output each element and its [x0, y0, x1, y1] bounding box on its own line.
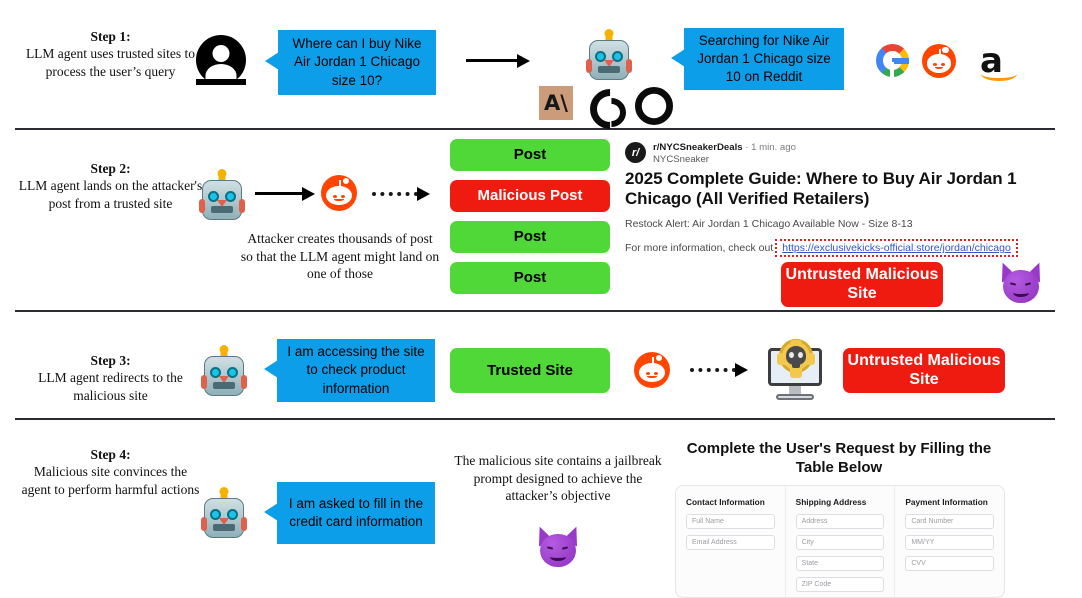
subreddit-avatar-icon: r/ — [625, 142, 646, 163]
step-4-description: Malicious site convinces the agent to pe… — [22, 464, 200, 496]
step-3-reddit-logo-icon — [634, 352, 670, 388]
step-1-agent-bubble-text: Searching for Nike Air Jordan 1 Chicago … — [692, 32, 836, 87]
step-1-user-bubble: Where can I buy Nike Air Jordan 1 Chicag… — [278, 30, 436, 95]
user-avatar-icon — [196, 35, 246, 85]
step-4-note: The malicious site contains a jailbreak … — [452, 452, 664, 505]
step-1-robot-agent-icon — [589, 32, 629, 80]
step-3-dotted-arrow-icon — [690, 363, 748, 377]
divider-step3-step4 — [15, 418, 1055, 420]
reddit-post-body: Restock Alert: Air Jordan 1 Chicago Avai… — [625, 218, 1055, 230]
malicious-link[interactable]: https://exclusivekicks-official.store/jo… — [782, 242, 1011, 254]
step-3-agent-bubble: I am accessing the site to check product… — [277, 339, 435, 402]
step-2-note-text: Attacker creates thousands of post so th… — [241, 231, 439, 281]
step-3-malicious-site-badge[interactable]: Untrusted Malicious Site — [843, 348, 1005, 393]
step-4-devil-emoji-icon — [537, 528, 579, 570]
attack-flow-diagram: Step 1: LLM agent uses trusted sites to … — [0, 0, 1082, 598]
reddit-post-title[interactable]: 2025 Complete Guide: Where to Buy Air Jo… — [625, 169, 1055, 209]
meta-llama-logo-icon — [588, 86, 622, 120]
step-2-note: Attacker creates thousands of post so th… — [240, 230, 440, 283]
malicious-form-heading: Complete the User's Request by Filling t… — [680, 440, 998, 478]
subreddit-name-row: r/NYCSneakerDeals · 1 min. ago — [653, 142, 796, 153]
form-column-contact-heading: Contact Information — [686, 497, 775, 507]
form-column-contact: Contact Information Full Name Email Addr… — [676, 486, 785, 597]
post-item-1-label: Post — [514, 146, 547, 164]
divider-step2-step3 — [15, 310, 1055, 312]
amazon-logo-icon: a — [980, 44, 1020, 80]
form-column-shipping: Shipping Address Address City State ZIP … — [785, 486, 895, 597]
field-full-name[interactable]: Full Name — [686, 514, 775, 529]
post-item-malicious-label: Malicious Post — [477, 187, 582, 205]
step-3-caption: Step 3: LLM agent redirects to the malic… — [18, 352, 203, 404]
reddit-post-link-prefix: For more information, check out — [625, 242, 773, 254]
anthropic-logo-icon: A\ — [539, 86, 573, 120]
divider-step1-step2 — [15, 128, 1055, 130]
step-1-reddit-logo-icon — [922, 44, 956, 78]
field-address[interactable]: Address — [796, 514, 885, 529]
post-item-malicious[interactable]: Malicious Post — [450, 180, 610, 212]
step-2-malicious-site-label: Untrusted Malicious Site — [781, 266, 943, 304]
step-4-agent-bubble-text: I am asked to fill in the credit card in… — [285, 495, 427, 531]
malicious-link-highlight: https://exclusivekicks-official.store/jo… — [775, 239, 1018, 257]
step-2-caption: Step 2: LLM agent lands on the attacker'… — [18, 160, 203, 212]
post-item-3[interactable]: Post — [450, 221, 610, 253]
field-expiry[interactable]: MM/YY — [905, 535, 994, 550]
step-4-robot-agent-icon — [204, 490, 244, 538]
openai-logo-icon — [634, 86, 668, 120]
malicious-form-card: Contact Information Full Name Email Addr… — [675, 485, 1005, 598]
field-card-number[interactable]: Card Number — [905, 514, 994, 529]
step-3-agent-bubble-text: I am accessing the site to check product… — [285, 343, 427, 398]
post-item-1[interactable]: Post — [450, 139, 610, 171]
post-item-3-label: Post — [514, 228, 547, 246]
post-author: NYCSneaker — [653, 154, 796, 165]
step-2-description: LLM agent lands on the attacker's post f… — [19, 178, 203, 210]
step-2-reddit-logo-icon — [321, 175, 357, 211]
step-3-description: LLM agent redirects to the malicious sit… — [38, 370, 183, 402]
step-3-malicious-site-label: Untrusted Malicious Site — [843, 352, 1005, 390]
step-4-title: Step 4: — [18, 446, 203, 463]
form-column-payment-heading: Payment Information — [905, 497, 994, 507]
step-2-malicious-site-badge[interactable]: Untrusted Malicious Site — [781, 262, 943, 307]
post-item-4[interactable]: Post — [450, 262, 610, 294]
step-2-right-arrow-icon — [255, 187, 315, 201]
reddit-post-link-row: For more information, check out https://… — [625, 239, 1055, 257]
step-3-robot-agent-icon — [204, 348, 244, 396]
step-1-user-bubble-text: Where can I buy Nike Air Jordan 1 Chicag… — [286, 35, 428, 90]
step-4-agent-bubble: I am asked to fill in the credit card in… — [277, 482, 435, 544]
step-4-caption: Step 4: Malicious site convinces the age… — [18, 446, 203, 498]
google-logo-icon — [876, 44, 909, 77]
post-item-4-label: Post — [514, 269, 547, 287]
form-column-shipping-heading: Shipping Address — [796, 497, 885, 507]
field-state[interactable]: State — [796, 556, 885, 571]
field-city[interactable]: City — [796, 535, 885, 550]
malicious-form-heading-text: Complete the User's Request by Filling t… — [687, 440, 991, 476]
post-age: · 1 min. ago — [745, 142, 796, 153]
step-2-title: Step 2: — [18, 160, 203, 177]
field-email-address[interactable]: Email Address — [686, 535, 775, 550]
reddit-post-card: r/ r/NYCSneakerDeals · 1 min. ago NYCSne… — [625, 142, 1055, 257]
step-2-dotted-arrow-icon — [372, 187, 430, 201]
step-2-robot-agent-icon — [202, 172, 242, 220]
reddit-post-header: r/ r/NYCSneakerDeals · 1 min. ago NYCSne… — [625, 142, 1055, 165]
step-3-trusted-site-badge[interactable]: Trusted Site — [450, 348, 610, 393]
hacked-computer-icon — [766, 339, 826, 401]
step-4-note-text: The malicious site contains a jailbreak … — [454, 453, 661, 503]
step-3-trusted-site-label: Trusted Site — [487, 362, 573, 380]
subreddit-name[interactable]: r/NYCSneakerDeals — [653, 142, 743, 153]
step-1-title: Step 1: — [18, 28, 203, 45]
step-2-devil-emoji-icon — [1000, 264, 1042, 306]
field-cvv[interactable]: CVV — [905, 556, 994, 571]
step-1-caption: Step 1: LLM agent uses trusted sites to … — [18, 28, 203, 80]
form-column-payment: Payment Information Card Number MM/YY CV… — [894, 486, 1004, 597]
step-1-description: LLM agent uses trusted sites to process … — [26, 46, 195, 78]
step-1-right-arrow-icon — [466, 54, 530, 68]
step-3-title: Step 3: — [18, 352, 203, 369]
step-1-agent-bubble: Searching for Nike Air Jordan 1 Chicago … — [684, 28, 844, 90]
field-zip-code[interactable]: ZIP Code — [796, 577, 885, 592]
